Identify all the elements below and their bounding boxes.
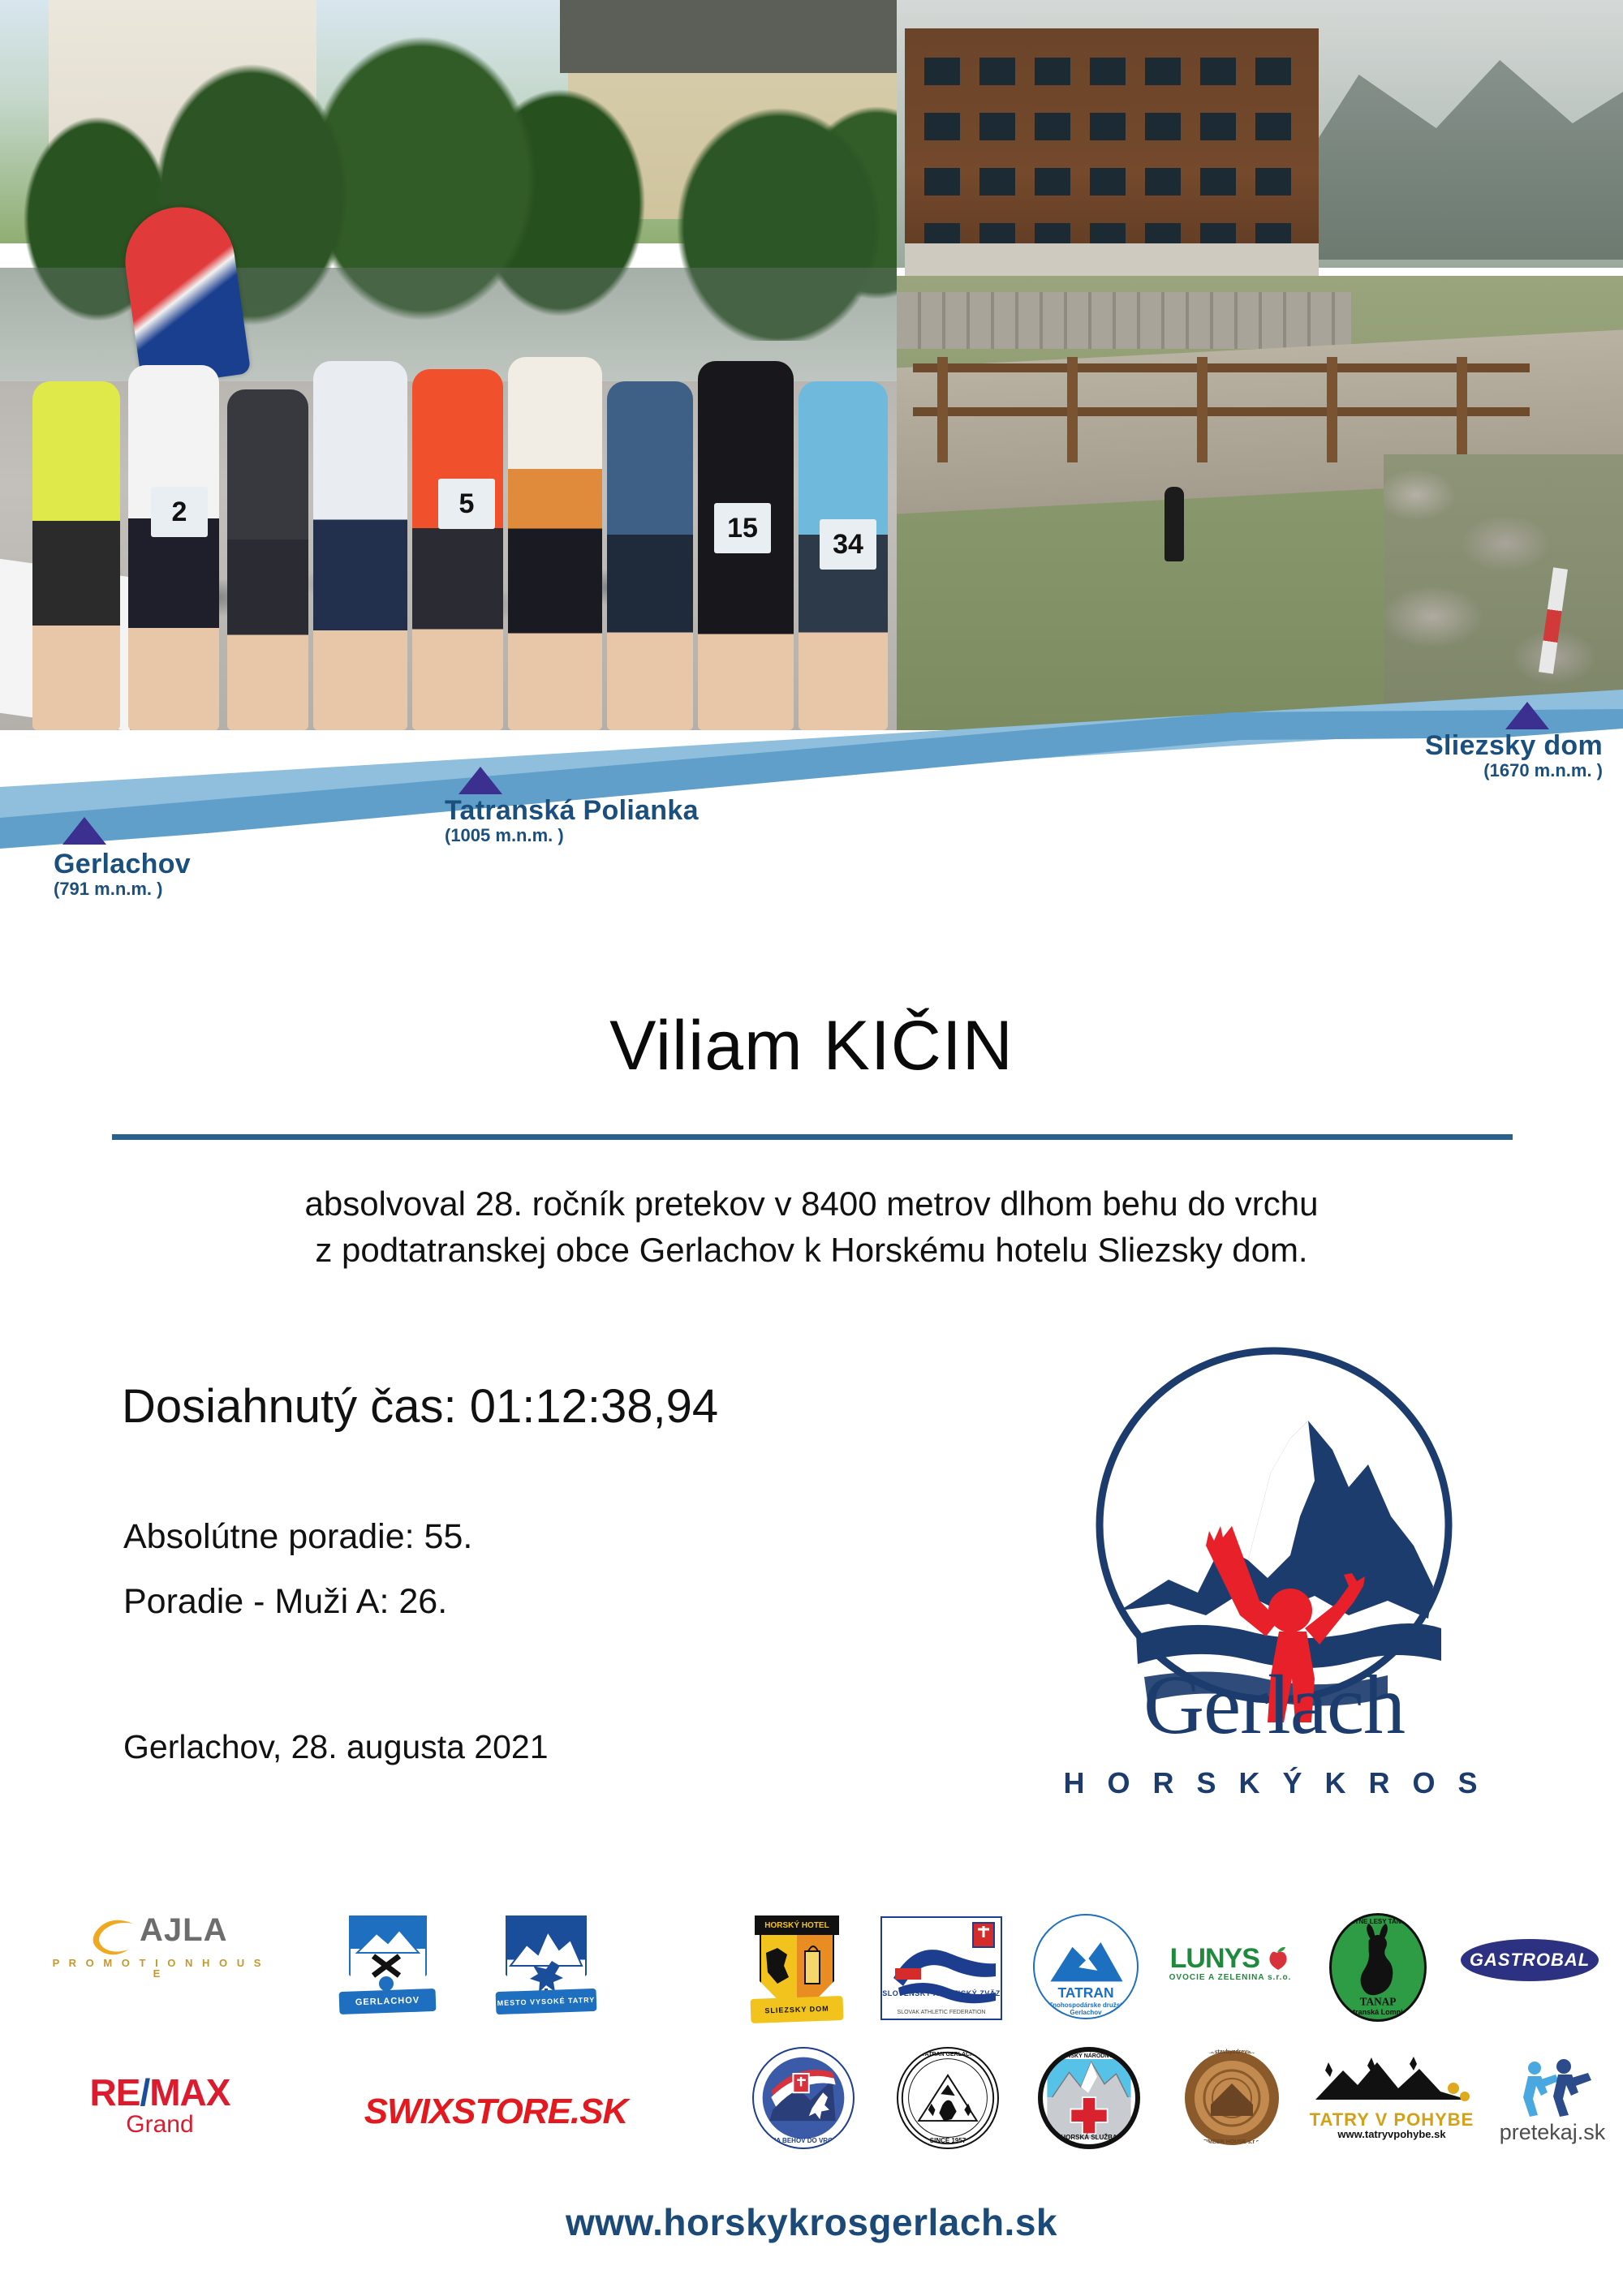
profile-bands — [0, 690, 1623, 876]
sponsor-name: TJ TATRAN GERLACHOV — [898, 2052, 997, 2057]
result-time: Dosiahnutý čas: 01:12:38,94 — [122, 1379, 718, 1434]
photo-band: 2 5 15 34 — [0, 0, 1623, 730]
stone-wall — [897, 292, 1351, 349]
tj-tatran-emblem-icon — [898, 2047, 997, 2149]
sponsor-statne-lesy-tanapu: TANAP ŠTÁTNE LESY TANAPu Tatranská Lomni… — [1321, 1908, 1435, 2026]
sponsor-name: pretekaj.sk — [1500, 2121, 1606, 2143]
athletics-federation-icon — [882, 1918, 1004, 2022]
profile-point-tatranska-polianka: Tatranská Polianka (1005 m.n.m. ) — [445, 797, 699, 845]
race-bib: 15 — [714, 503, 771, 553]
ajla-swoosh-icon — [89, 1917, 136, 1958]
timber-house-icon — [1182, 2048, 1282, 2148]
rank-category: Poradie - Muži A: 26. — [123, 1582, 447, 1622]
rank-absolute: Absolútne poradie: 55. — [123, 1517, 472, 1557]
sponsor-name: TATRANSKÝ NÁRODNÝ PARK — [1043, 2053, 1135, 2059]
svg-text:TATRAN: TATRAN — [1057, 1984, 1113, 2001]
sponsor-mesto-vysoke-tatry: MESTO VYSOKÉ TATRY — [493, 1907, 599, 2020]
intro-paragraph: absolvoval 28. ročník pretekov v 8400 me… — [0, 1180, 1623, 1273]
apple-icon — [1263, 1945, 1290, 1972]
sponsor-tagline: HORSKÁ SLUŽBA — [1043, 2134, 1135, 2141]
tatry-v-pohybe-mountains-icon — [1311, 2056, 1473, 2106]
svg-text:TANAP: TANAP — [1360, 1995, 1397, 2007]
profile-point-altitude: (1670 m.n.m. ) — [1343, 761, 1603, 780]
peak-marker-icon — [1505, 702, 1549, 729]
race-bib: 2 — [151, 487, 208, 537]
sponsor-stavby-z-dreva: www.stavbyzdreva.com TIMBER HOUSE s.r.o. — [1175, 2041, 1289, 2155]
sponsor-obec-gerlachov: GERLACHOV — [339, 1907, 437, 2020]
sponsor-name: AJLA — [140, 1912, 227, 1948]
certificate-page: 2 5 15 34 — [0, 0, 1623, 2296]
sponsor-tagline: SINCE 1957 — [898, 2137, 997, 2144]
photo-sliezsky-dom — [897, 0, 1623, 730]
sponsor-name: SWIXSTORE.SK — [364, 2092, 628, 2132]
runner-figure — [128, 365, 219, 730]
hotel-building — [905, 28, 1319, 272]
sponsor-swixstore: SWIXSTORE.SK — [321, 2075, 670, 2148]
sponsor-tatry-v-pohybe: TATRY V POHYBE www.tatryvpohybe.sk — [1298, 2049, 1485, 2147]
sponsor-remax: RE/MAX Grand — [50, 2061, 269, 2150]
profile-point-altitude: (791 m.n.m. ) — [54, 879, 191, 898]
sponsor-ajla: AJLA P R O M O T I O N H O U S E — [49, 1910, 268, 1983]
sponsor-tagline: TIMBER HOUSE s.r.o. — [1182, 2139, 1282, 2145]
sponsor-tagline: Poľnohospodárske družstvo Gerlachov — [1035, 2001, 1137, 2016]
sponsor-tagline: P R O M O T I O N H O U S E — [49, 1958, 268, 1980]
sponsor-horsky-hotel-sliezsky-dom: HORSKÝ HOTEL SLIEZSKY DOM — [740, 1908, 854, 2030]
runner-figure — [227, 389, 308, 730]
rocky-terrain — [1384, 454, 1623, 730]
result-time-label: Dosiahnutý čas: — [122, 1380, 457, 1433]
sponsor-tagline: SLIEZSKY DOM — [750, 1996, 843, 2023]
profile-point-altitude: (1005 m.n.m. ) — [445, 826, 699, 845]
remax-re: RE — [90, 2071, 140, 2113]
runner-figure — [607, 381, 693, 730]
intro-line-1: absolvoval 28. ročník pretekov v 8400 me… — [0, 1180, 1623, 1227]
runner-figure — [313, 361, 407, 730]
runner-on-trail — [1165, 487, 1184, 561]
unia-emblem-icon — [754, 2047, 853, 2149]
divider-rule — [112, 1134, 1513, 1140]
runner-figure — [412, 369, 503, 730]
profile-point-sliezsky-dom: Sliezsky dom (1670 m.n.m. ) — [1343, 732, 1603, 780]
sponsor-name: ŠTÁTNE LESY TANAPu — [1332, 1918, 1424, 1925]
logo-wordmark: Gerlach — [1047, 1657, 1501, 1753]
sponsor-pretekaj-sk: pretekaj.sk — [1492, 2053, 1613, 2150]
sponsor-name: www.stavbyzdreva.com — [1182, 2049, 1282, 2055]
sponsor-unia-behov-do-vrchu: ÚNIA BEHOV DO VRCHU — [747, 2041, 860, 2155]
runner-figure — [32, 381, 120, 730]
sponsor-logos: AJLA P R O M O T I O N H O U S E RE/MAX … — [0, 1907, 1623, 2215]
sponsor-name: SLOVENSKÝ ATLETICKÝ ZVÄZ — [882, 1989, 1001, 1997]
peak-marker-icon — [62, 817, 106, 845]
sponsor-tagline: Tatranská Lomnica — [1332, 2008, 1424, 2016]
sponsor-tagline: www.tatryvpohybe.sk — [1310, 2129, 1474, 2140]
remax-max: MAX — [149, 2071, 230, 2113]
race-bib: 34 — [820, 519, 876, 570]
footer-website-url[interactable]: www.horskykrosgerlach.sk — [0, 2200, 1623, 2244]
sponsor-name: TATRY V POHYBE — [1310, 2110, 1474, 2129]
sponsor-slovensky-atleticky-zvaz: SLOVENSKÝ ATLETICKÝ ZVÄZ SLOVAK ATHLETIC… — [876, 1911, 1006, 2025]
chamois-icon: TANAP — [1332, 1913, 1424, 2022]
sponsor-lunys: LUNYS OVOCIE A ZELENINA s.r.o. — [1165, 1915, 1295, 2012]
sponsor-tagline: Grand — [90, 2112, 230, 2138]
race-bib: 5 — [438, 479, 495, 529]
sponsor-name: RE/MAX — [90, 2073, 230, 2112]
sponsor-name: ÚNIA BEHOV DO VRCHU — [754, 2137, 853, 2144]
profile-point-name: Sliezsky dom — [1343, 732, 1603, 761]
profile-point-name: Tatranská Polianka — [445, 797, 699, 826]
sponsor-name: LUNYS — [1170, 1945, 1259, 1974]
sponsor-name: GERLACHOV — [339, 1989, 437, 2014]
logo-subtitle: H O R S K Ý K R O S — [1047, 1766, 1501, 1800]
intro-line-2: z podtatranskej obce Gerlachov k Horském… — [0, 1227, 1623, 1273]
gerlach-event-logo: Gerlach H O R S K Ý K R O S — [1047, 1343, 1501, 1805]
sponsor-tagline: OVOCIE A ZELENINA s.r.o. — [1169, 1974, 1292, 1983]
peak-marker-icon — [458, 767, 502, 794]
remax-slash: / — [140, 2071, 149, 2113]
sponsor-name: GASTROBAL — [1461, 1939, 1599, 1981]
sponsor-pd-tatran-gerlachov: TATRAN Poľnohospodárske družstvo Gerlach… — [1029, 1910, 1143, 2023]
elevation-profile-ribbon: Gerlachov (791 m.n.m. ) Tatranská Polian… — [0, 690, 1623, 876]
two-runners-icon — [1513, 2058, 1591, 2117]
place-and-date: Gerlachov, 28. augusta 2021 — [123, 1728, 549, 1766]
sponsor-tj-tatran-gerlachov: TJ TATRAN GERLACHOV SINCE 1957 — [891, 2041, 1005, 2155]
profile-point-name: Gerlachov — [54, 850, 191, 879]
photo-race-start: 2 5 15 34 — [0, 0, 897, 730]
athlete-name: Viliam KIČIN — [0, 1006, 1623, 1086]
result-time-value: 01:12:38,94 — [470, 1380, 718, 1433]
sponsor-horska-sluzba: TATRANSKÝ NÁRODNÝ PARK HORSKÁ SLUŽBA — [1032, 2041, 1146, 2155]
sponsor-tagline: SLOVAK ATHLETIC FEDERATION — [882, 2010, 1001, 2015]
sponsor-gastrobal: GASTROBAL — [1453, 1928, 1607, 1993]
runner-figure — [508, 357, 602, 730]
profile-point-gerlachov: Gerlachov (791 m.n.m. ) — [54, 850, 191, 898]
sponsor-name: MESTO VYSOKÉ TATRY — [496, 1989, 597, 2015]
wooden-fence — [913, 357, 1530, 462]
